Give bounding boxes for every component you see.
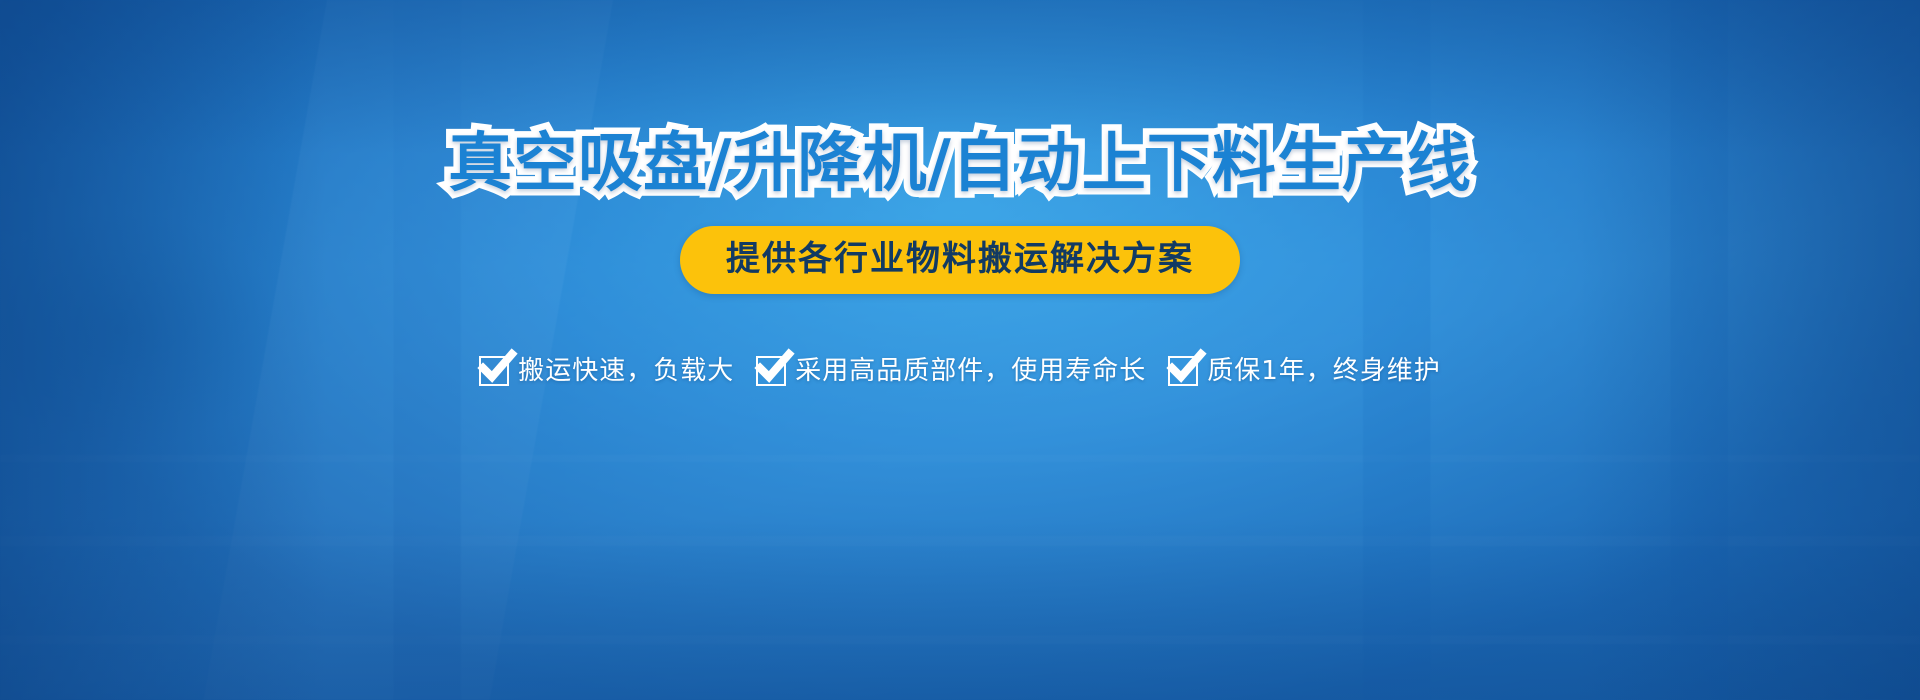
feature-label: 质保1年，终身维护 [1207,356,1441,386]
banner-subtitle-badge: 提供各行业物料搬运解决方案 [680,226,1240,294]
checkbox-check-icon [479,356,509,386]
feature-label: 采用高品质部件，使用寿命长 [795,356,1146,386]
checkbox-check-icon [756,356,786,386]
feature-item: 采用高品质部件，使用寿命长 [756,356,1146,386]
banner-headline: 真空吸盘/升降机/自动上下料生产线 [448,126,1472,202]
feature-item: 搬运快速，负载大 [479,356,734,386]
checkbox-check-icon [1168,356,1198,386]
feature-label: 搬运快速，负载大 [518,356,734,386]
feature-item: 质保1年，终身维护 [1168,356,1441,386]
promo-banner: 真空吸盘/升降机/自动上下料生产线 提供各行业物料搬运解决方案 搬运快速，负载大… [0,0,1920,700]
banner-content: 真空吸盘/升降机/自动上下料生产线 提供各行业物料搬运解决方案 搬运快速，负载大… [0,0,1920,700]
feature-list: 搬运快速，负载大 采用高品质部件，使用寿命长 质保1年，终身维护 [479,356,1441,386]
